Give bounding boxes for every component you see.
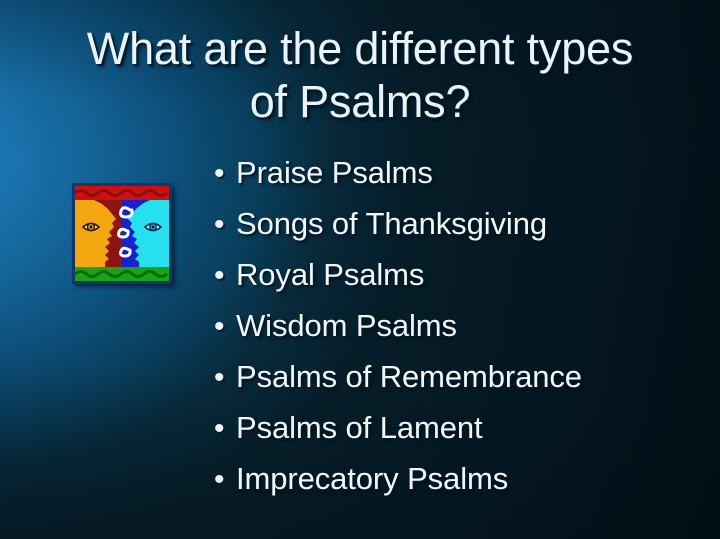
- bullet-dot-icon: •: [214, 361, 236, 395]
- bullet-label: Imprecatory Psalms: [236, 462, 704, 496]
- bullet-item-psalms-of-lament: • Psalms of Lament: [214, 411, 704, 462]
- bullet-item-royal-psalms: • Royal Psalms: [214, 258, 704, 309]
- bullet-label: Songs of Thanksgiving: [236, 207, 704, 241]
- bullet-label: Psalms of Lament: [236, 411, 704, 445]
- bullet-dot-icon: •: [214, 208, 236, 242]
- bullet-dot-icon: •: [214, 310, 236, 344]
- slide-title: What are the different types of Psalms?: [40, 22, 680, 128]
- bullet-label: Psalms of Remembrance: [236, 360, 704, 394]
- bullet-dot-icon: •: [214, 259, 236, 293]
- bullet-item-songs-of-thanksgiving: • Songs of Thanksgiving: [214, 207, 704, 258]
- bullet-list: • Praise Psalms • Songs of Thanksgiving …: [214, 156, 704, 513]
- bullet-item-praise-psalms: • Praise Psalms: [214, 156, 704, 207]
- bullet-label: Royal Psalms: [236, 258, 704, 292]
- bullet-dot-icon: •: [214, 463, 236, 497]
- bullet-dot-icon: •: [214, 157, 236, 191]
- bullet-label: Praise Psalms: [236, 156, 704, 190]
- bullet-item-psalms-of-remembrance: • Psalms of Remembrance: [214, 360, 704, 411]
- bullet-label: Wisdom Psalms: [236, 309, 704, 343]
- bullet-item-imprecatory-psalms: • Imprecatory Psalms: [214, 462, 704, 513]
- bullet-dot-icon: •: [214, 412, 236, 446]
- bullet-item-wisdom-psalms: • Wisdom Psalms: [214, 309, 704, 360]
- presentation-slide: What are the different types of Psalms?: [0, 0, 720, 539]
- two-faces-profile-clipart-icon: [72, 183, 172, 284]
